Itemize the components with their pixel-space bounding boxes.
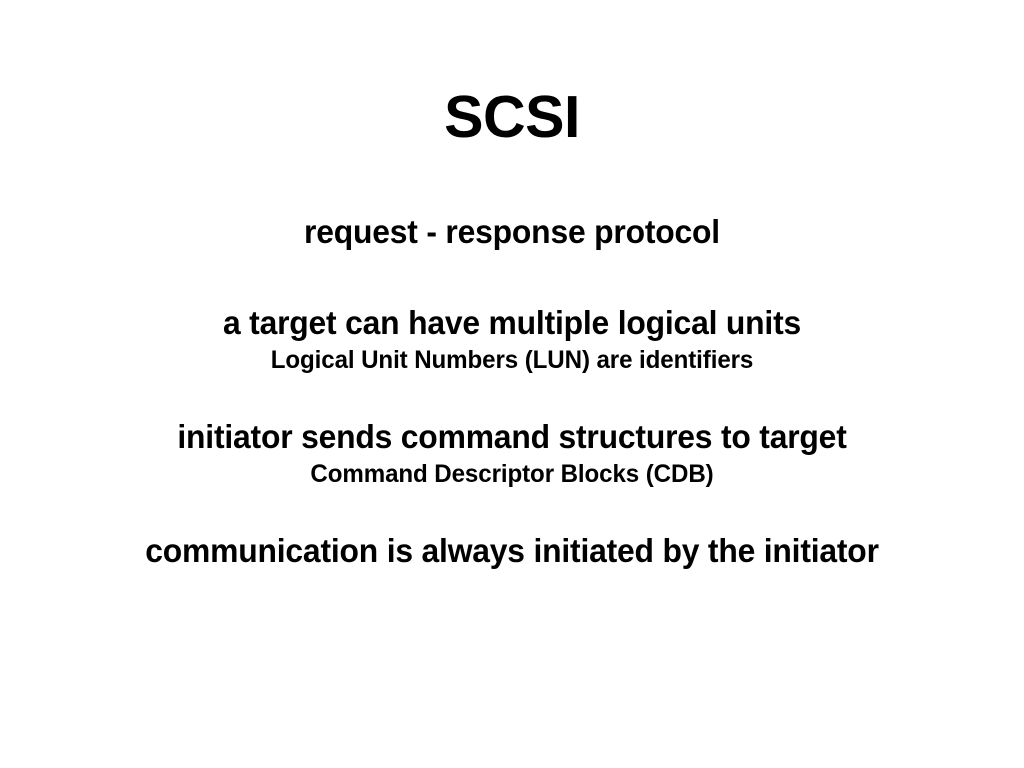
content-block-initiator: initiator sends command structures to ta…: [0, 419, 1024, 488]
content-block-target: a target can have multiple logical units…: [0, 305, 1024, 374]
bullet-heading-target: a target can have multiple logical units: [18, 305, 1006, 341]
content-block-communication: communication is always initiated by the…: [0, 533, 1024, 569]
page-title: SCSI: [0, 88, 1024, 147]
content-block-protocol: request - response protocol: [0, 214, 1024, 250]
bullet-heading-communication: communication is always initiated by the…: [18, 533, 1006, 569]
presentation-slide: SCSI request - response protocol a targe…: [0, 0, 1024, 768]
bullet-subtext-cdb: Command Descriptor Blocks (CDB): [18, 460, 1006, 488]
bullet-heading-protocol: request - response protocol: [18, 214, 1006, 250]
bullet-heading-initiator: initiator sends command structures to ta…: [18, 419, 1006, 455]
bullet-subtext-lun: Logical Unit Numbers (LUN) are identifie…: [18, 346, 1006, 374]
